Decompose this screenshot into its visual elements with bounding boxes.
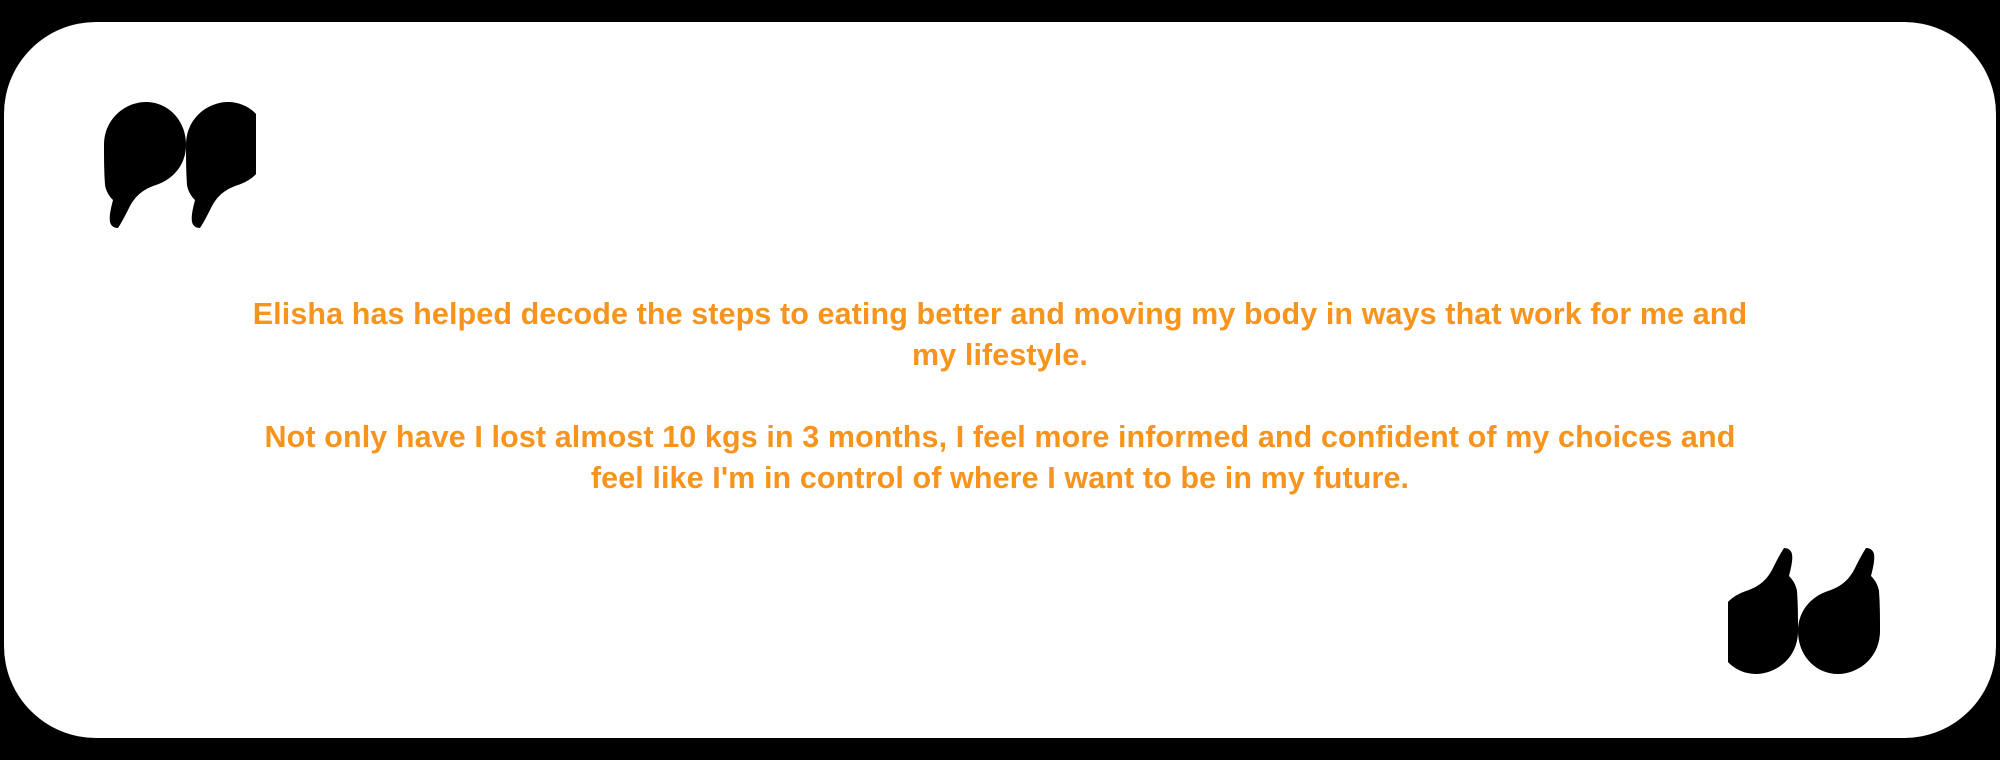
quote-close-mark-2: [1728, 548, 1798, 674]
quote-close-icon: [1728, 546, 1928, 676]
testimonial-card: Elisha has helped decode the steps to ea…: [4, 22, 1996, 738]
testimonial-stage: Elisha has helped decode the steps to ea…: [0, 0, 2000, 760]
quote-text-block: Elisha has helped decode the steps to ea…: [4, 294, 1996, 499]
quote-paragraph-2: Not only have I lost almost 10 kgs in 3 …: [244, 417, 1756, 499]
quote-open-mark-1: [104, 102, 186, 228]
quote-open-icon: [56, 100, 256, 230]
quote-close-mark-1: [1798, 548, 1880, 674]
quote-paragraph-1: Elisha has helped decode the steps to ea…: [244, 294, 1756, 376]
quote-open-mark-2: [186, 102, 256, 228]
